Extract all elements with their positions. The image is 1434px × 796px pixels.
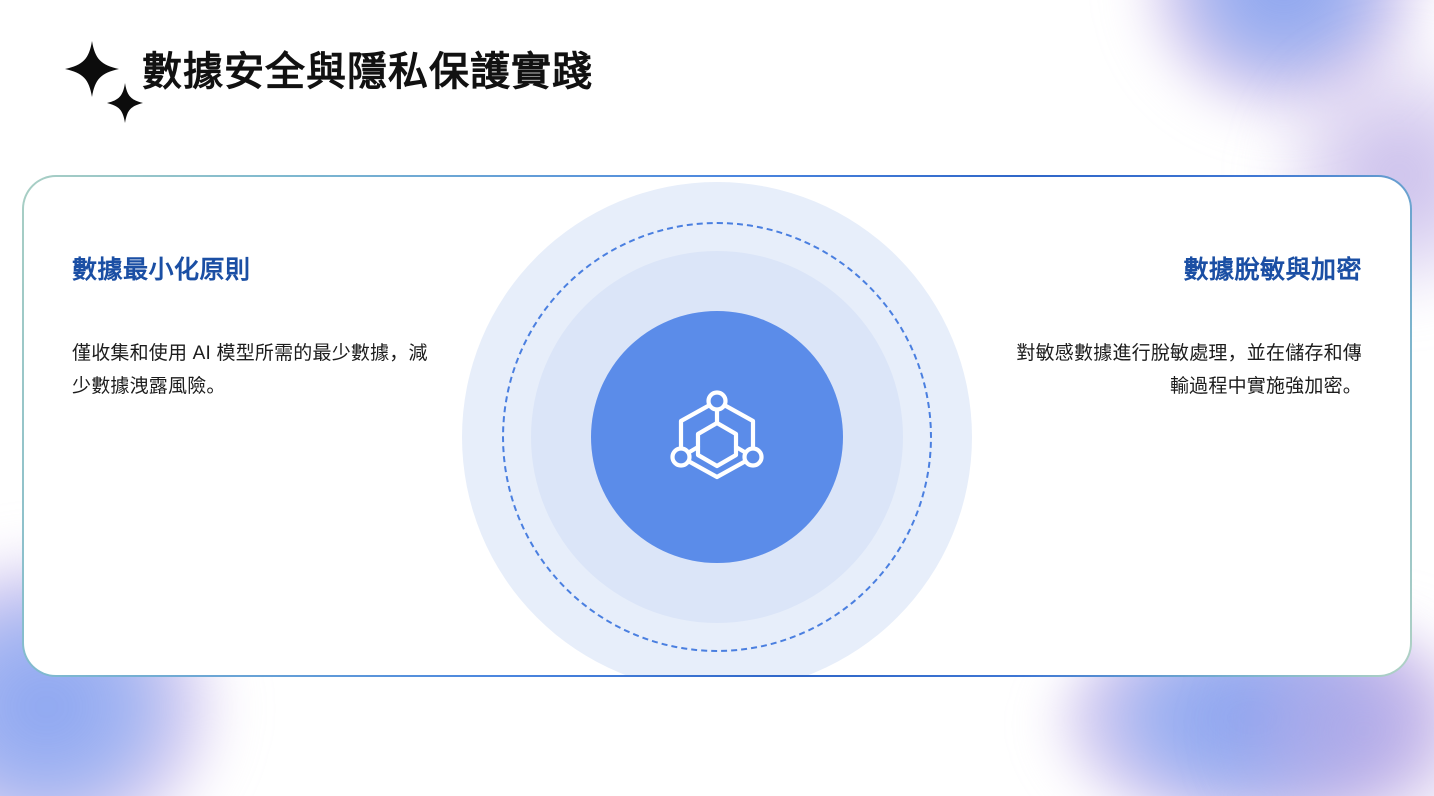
sparkle-icon xyxy=(62,33,148,129)
slide-root: 數據安全與隱私保護實踐 xyxy=(0,0,1434,796)
column-heading: 數據脫敏與加密 xyxy=(1002,255,1362,285)
center-graphic xyxy=(462,182,972,677)
column-heading: 數據最小化原則 xyxy=(72,255,432,285)
sparkle-group xyxy=(62,33,148,129)
content-card: 數據最小化原則 僅收集和使用 AI 模型所需的最少數據，減少數據洩露風險。 數據… xyxy=(22,175,1412,677)
core-circle xyxy=(591,311,843,563)
network-cube-node-icon xyxy=(661,381,773,493)
column-data-masking-encryption: 數據脫敏與加密 對敏感數據進行脫敏處理，並在儲存和傳輸過程中實施強加密。 xyxy=(1002,255,1362,404)
page-title: 數據安全與隱私保護實踐 xyxy=(142,52,593,92)
slide-header: 數據安全與隱私保護實踐 xyxy=(62,33,593,129)
column-data-minimization: 數據最小化原則 僅收集和使用 AI 模型所需的最少數據，減少數據洩露風險。 xyxy=(72,255,432,404)
column-body: 對敏感數據進行脫敏處理，並在儲存和傳輸過程中實施強加密。 xyxy=(1002,337,1362,404)
column-body: 僅收集和使用 AI 模型所需的最少數據，減少數據洩露風險。 xyxy=(72,337,432,404)
